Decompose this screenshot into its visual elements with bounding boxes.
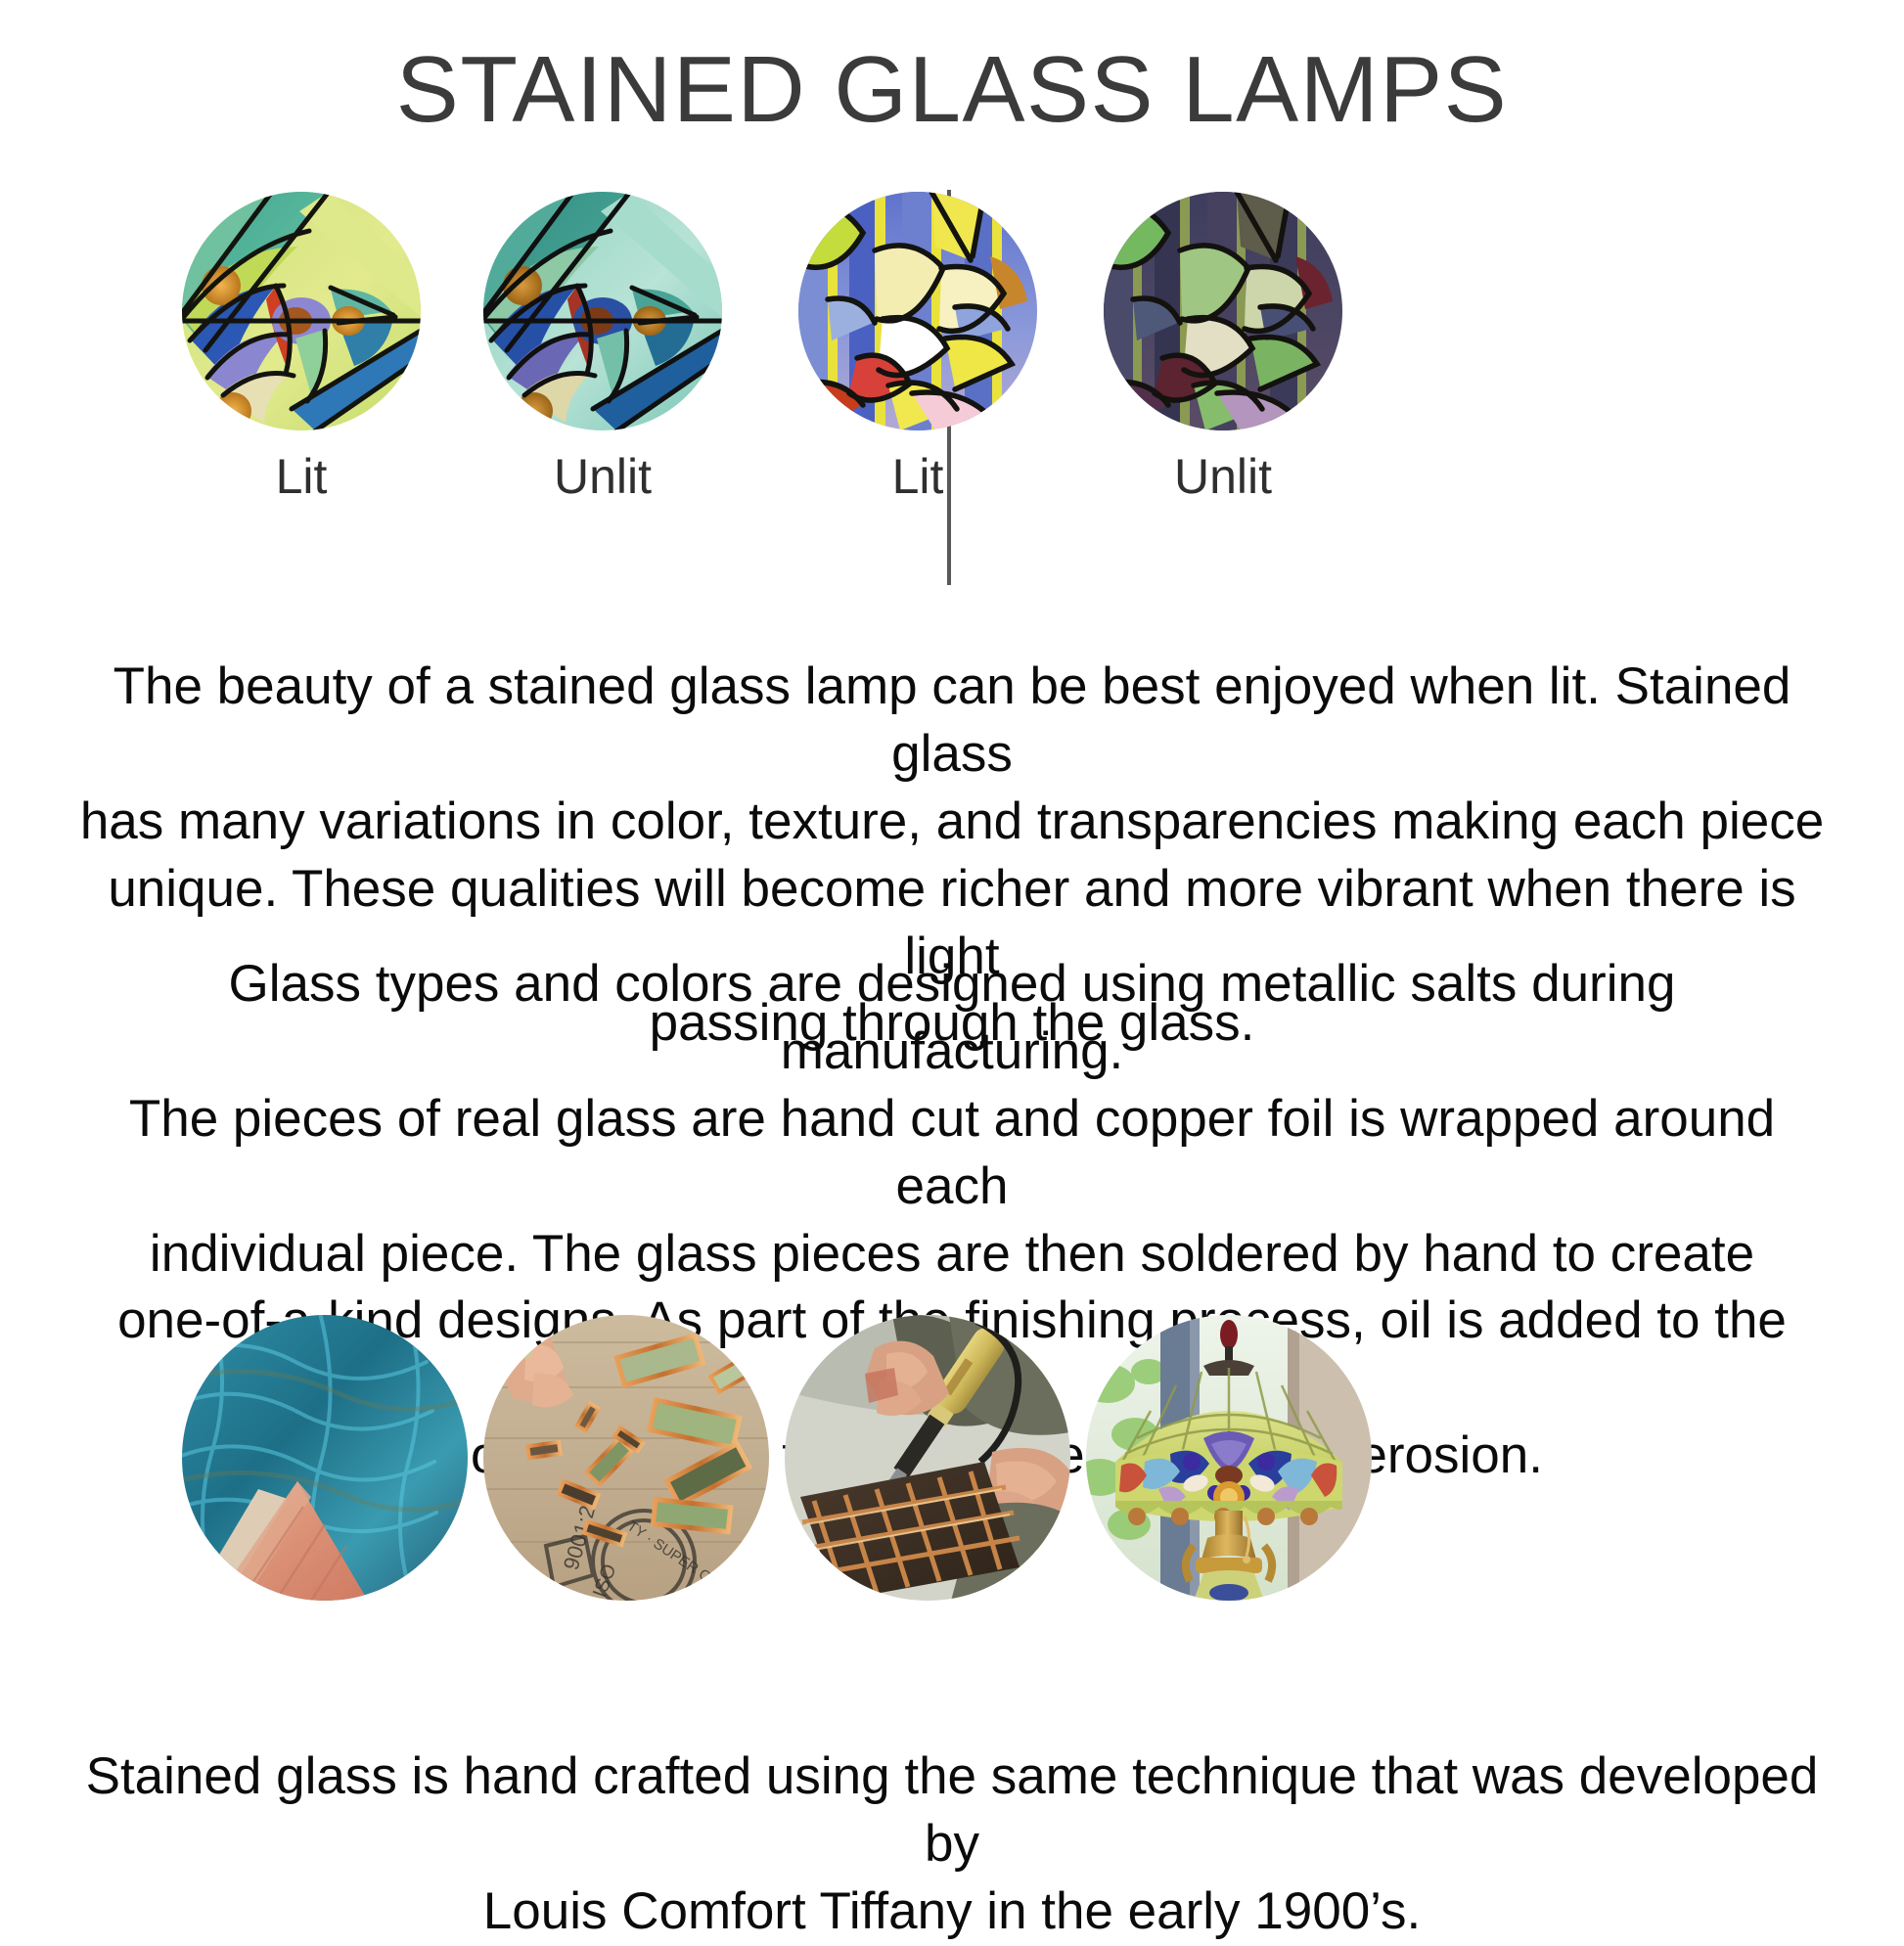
glass-swatch-unlit-floral bbox=[1104, 192, 1342, 430]
glass-sheet-art bbox=[182, 1315, 468, 1601]
glass-sheet-photo bbox=[182, 1315, 468, 1601]
finished-lamp-photo bbox=[1086, 1315, 1372, 1601]
footer-caption-tiffany: Stained glass is hand crafted using the … bbox=[68, 1743, 1836, 1946]
process-photo-row: 9001:20 ISO TY · SUPER QU bbox=[0, 1311, 1904, 1605]
page-title: STAINED GLASS LAMPS bbox=[0, 41, 1904, 140]
swatch-caption-unlit-floral: Unlit bbox=[1104, 448, 1342, 505]
stained-glass-art-unlit-floral bbox=[1104, 192, 1342, 430]
glass-swatch-lit-peacock bbox=[182, 192, 421, 430]
soldering-photo bbox=[785, 1315, 1070, 1601]
copper-foiling-photo: 9001:20 ISO TY · SUPER QU bbox=[483, 1315, 769, 1601]
finished-lamp-art bbox=[1086, 1315, 1372, 1601]
soldering-art bbox=[785, 1315, 1070, 1601]
glass-swatch-lit-floral bbox=[798, 192, 1037, 430]
lit-unlit-comparison: Lit Unlit Lit Unlit bbox=[0, 182, 1904, 603]
stained-glass-art-unlit-peacock bbox=[483, 192, 722, 430]
swatch-caption-lit-peacock: Lit bbox=[182, 448, 421, 505]
swatch-caption-unlit-peacock: Unlit bbox=[483, 448, 722, 505]
copper-foiling-art: 9001:20 ISO TY · SUPER QU bbox=[483, 1315, 769, 1601]
stained-glass-art-lit-peacock bbox=[182, 192, 421, 430]
swatch-caption-lit-floral: Lit bbox=[798, 448, 1037, 505]
glass-swatch-unlit-peacock bbox=[483, 192, 722, 430]
stained-glass-art-lit-floral bbox=[798, 192, 1037, 430]
